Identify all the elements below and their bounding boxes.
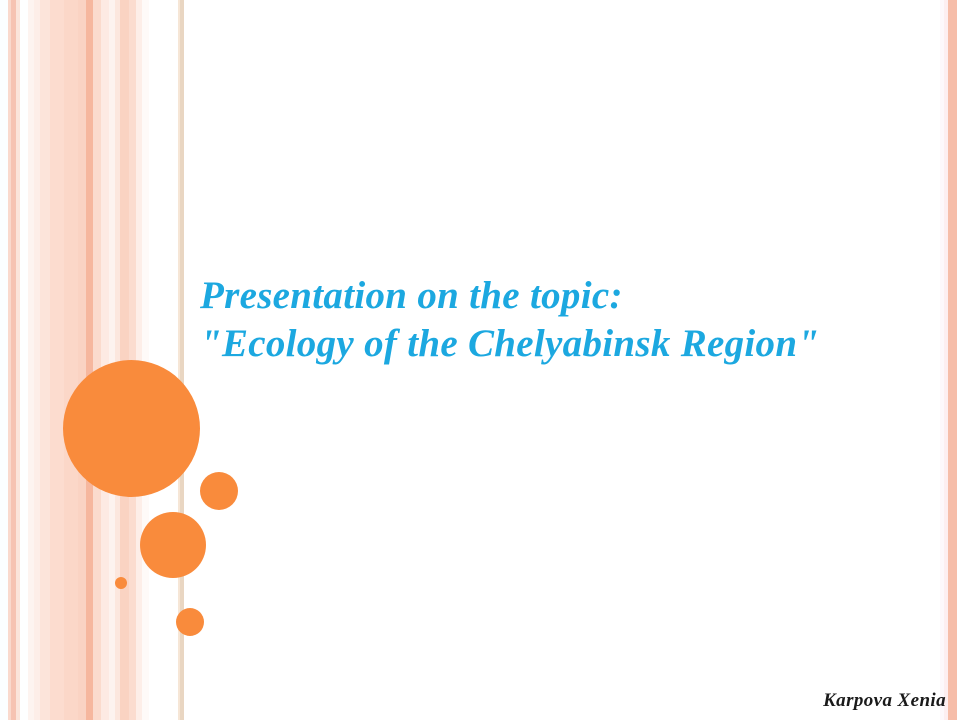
slide-title-line-1: Presentation on the topic: (200, 272, 930, 320)
left-stripe-decoration (0, 0, 190, 720)
right-stripe-2 (948, 0, 957, 720)
stripe-11 (86, 0, 93, 720)
slide-title-line-2: "Ecology of the Chelyabinsk Region" (200, 320, 930, 368)
author-name: Karpova Xenia (823, 690, 946, 712)
circle-large (63, 360, 200, 497)
slide-title-block: Presentation on the topic: "Ecology of t… (200, 272, 930, 368)
circle-medium-small (200, 472, 238, 510)
stripe-9 (64, 0, 78, 720)
right-stripe-decoration (940, 0, 960, 720)
stripe-8 (50, 0, 64, 720)
stripe-7 (40, 0, 50, 720)
stripe-0 (0, 0, 8, 720)
stripe-20 (149, 0, 178, 720)
presentation-slide: Presentation on the topic: "Ecology of t… (0, 0, 960, 720)
stripe-4 (20, 0, 28, 720)
circle-medium (140, 512, 206, 578)
stripe-12 (93, 0, 101, 720)
circle-tiny (115, 577, 127, 589)
circle-small (176, 608, 204, 636)
stripe-13 (101, 0, 109, 720)
stripe-10 (78, 0, 86, 720)
